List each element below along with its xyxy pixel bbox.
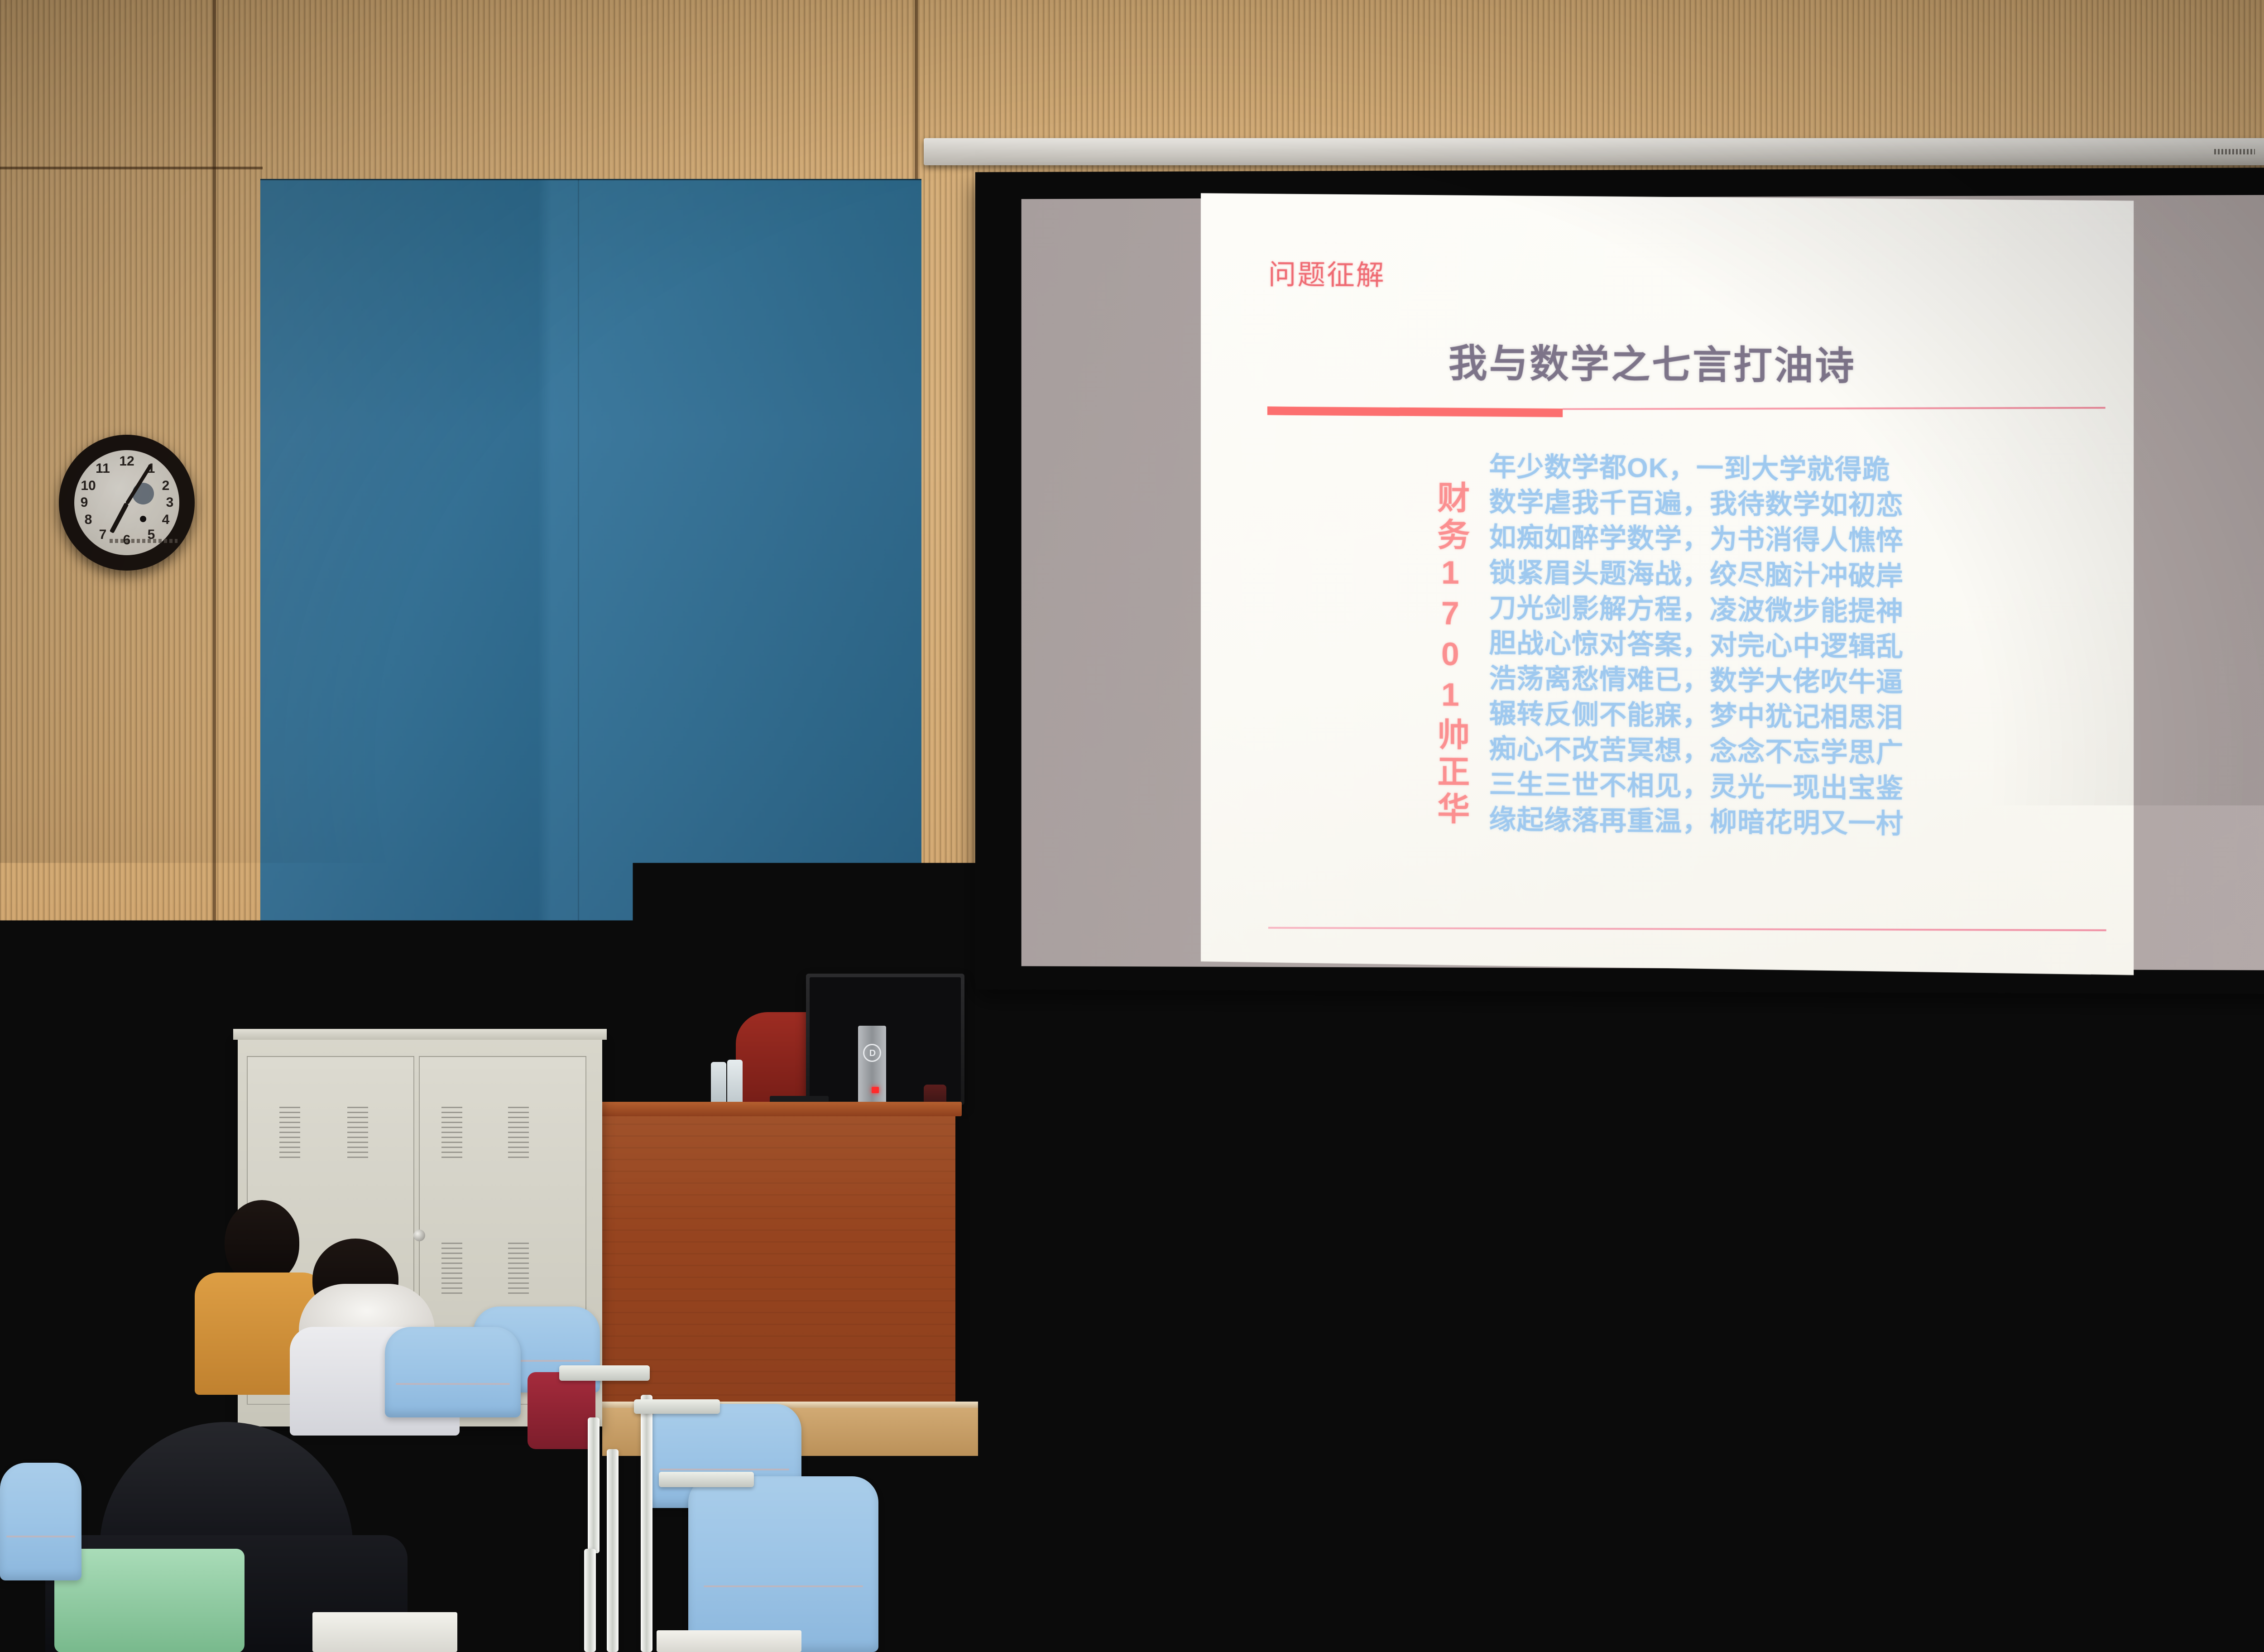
student-gray-jacket <box>2056 1531 2264 1652</box>
seat-arm <box>634 1399 720 1414</box>
clock-numeral: 2 <box>158 478 173 494</box>
seat[interactable] <box>978 1458 1173 1652</box>
lecture-hall-photo: 12 1 2 3 4 5 6 7 8 9 10 11 问题征解 我与数学之七言打… <box>0 0 2264 1652</box>
projected-slide: 问题征解 我与数学之七言打油诗 财务1701帅正华 年少数学都OK，一到大学就得… <box>1201 193 2134 975</box>
poem-line: 刀光剑影解方程，凌波微步能提神 <box>1489 591 2115 632</box>
red-bag <box>528 1372 595 1449</box>
wall-seam <box>915 0 918 181</box>
folding-desktop[interactable] <box>657 1630 801 1652</box>
wall-seam <box>0 167 263 169</box>
slide-divider-bottom <box>1268 927 2106 931</box>
clock-numeral: 5 <box>144 527 159 543</box>
projector-screen-surface: 问题征解 我与数学之七言打油诗 财务1701帅正华 年少数学都OK，一到大学就得… <box>1022 195 2264 970</box>
seat-post <box>641 1395 652 1652</box>
poem-line: 三生三世不相见，灵光一现出宝鉴 <box>1489 767 2115 809</box>
seat-post <box>1820 1440 1832 1576</box>
seat[interactable] <box>63 1318 181 1395</box>
poem-line: 痴心不改苦冥想，念念不忘学思广 <box>1489 731 2115 773</box>
clock-hub <box>140 516 146 522</box>
projector-screen-housing <box>924 138 2264 165</box>
clock-numeral: 11 <box>95 461 110 476</box>
student-ck-jacket <box>1666 1574 1947 1652</box>
clock-hour-hand <box>110 503 129 533</box>
slide-title: 我与数学之七言打油诗 <box>1201 330 2106 393</box>
seat-post <box>588 1417 600 1553</box>
lectern <box>602 1112 955 1424</box>
student-head <box>1290 1422 1399 1519</box>
poem-line: 年少数学都OK，一到大学就得跪 <box>1489 449 2115 490</box>
housing-vent <box>2214 149 2255 154</box>
student-head <box>1974 1340 2072 1431</box>
clock-numeral: 12 <box>119 454 134 469</box>
presenter-glasses <box>771 927 827 939</box>
clock-numeral: 3 <box>162 495 177 510</box>
poem-line: 锁紧眉头题海战，绞尽脑汁冲破岸 <box>1489 555 2115 596</box>
seat[interactable] <box>688 1476 878 1652</box>
teal-thermos <box>1243 1363 1264 1431</box>
student-dark-coat <box>1463 1567 1689 1652</box>
clock-face: 12 1 2 3 4 5 6 7 8 9 10 11 <box>74 450 179 555</box>
poem-line: 辗转反侧不能寐，梦中犹记相思泪 <box>1489 696 2115 738</box>
water-bottle <box>1463 1352 1481 1415</box>
clock-numeral: 10 <box>81 478 96 494</box>
seat[interactable] <box>385 1327 521 1417</box>
seat-post <box>607 1449 619 1652</box>
clock-numeral: 9 <box>77 495 92 510</box>
divider-line <box>1563 407 2106 410</box>
power-led-indicator <box>872 1087 879 1093</box>
steel-thermos <box>1748 1390 1769 1467</box>
seat-post <box>584 1549 596 1652</box>
seat-arm <box>659 1472 754 1487</box>
wall-seam <box>213 0 216 1042</box>
seat[interactable] <box>0 1463 82 1580</box>
poem-line: 胆战心惊对答案，对完心中逻辑乱 <box>1489 625 2115 667</box>
seat-arm <box>559 1365 650 1381</box>
green-backpack <box>54 1549 245 1652</box>
poem-line: 缘起缘落再重温，柳暗花明又一村 <box>1489 802 2115 844</box>
poem-line: 浩荡离愁情难已，数学大佬吹牛逼 <box>1489 661 2115 702</box>
projector-screen-frame: 问题征解 我与数学之七言打油诗 财务1701帅正华 年少数学都OK，一到大学就得… <box>975 168 2264 994</box>
clock-numeral: 6 <box>119 533 134 548</box>
wall-clock: 12 1 2 3 4 5 6 7 8 9 10 11 <box>59 435 195 571</box>
slide-divider-top <box>1267 403 2106 422</box>
slide-section-label: 问题征解 <box>1268 252 1386 293</box>
list-item <box>1463 1490 1689 1652</box>
clock-numeral: 4 <box>158 512 173 528</box>
dell-logo-icon: D <box>863 1044 881 1062</box>
dark-thermos <box>1116 1304 1137 1363</box>
seat[interactable] <box>2169 1340 2264 1436</box>
student-dark-gray <box>1214 1508 1467 1652</box>
water-bottle <box>1641 1282 1660 1345</box>
divider-bar <box>1267 407 1563 418</box>
clock-numeral: 7 <box>95 527 110 543</box>
poem-line: 数学虐我千百遍，我待数学如初恋 <box>1489 485 2115 525</box>
list-item <box>1214 1422 1467 1652</box>
student-head <box>1263 1186 1345 1273</box>
slide-vertical-byline: 财务1701帅正华 <box>1412 480 1467 829</box>
list-item <box>1947 1340 2096 1531</box>
folding-desktop[interactable] <box>312 1612 457 1652</box>
list-item: CK-S <box>1666 1494 1947 1652</box>
clock-numeral: 8 <box>81 512 96 528</box>
poem-line: 如痴如醉学数学，为书消得人憔悴 <box>1489 520 2115 561</box>
slide-poem: 年少数学都OK，一到大学就得跪 数学虐我千百遍，我待数学如初恋 如痴如醉学数学，… <box>1489 449 2115 844</box>
cabinet-top-cap <box>233 1029 607 1040</box>
lectern-top <box>596 1102 962 1116</box>
